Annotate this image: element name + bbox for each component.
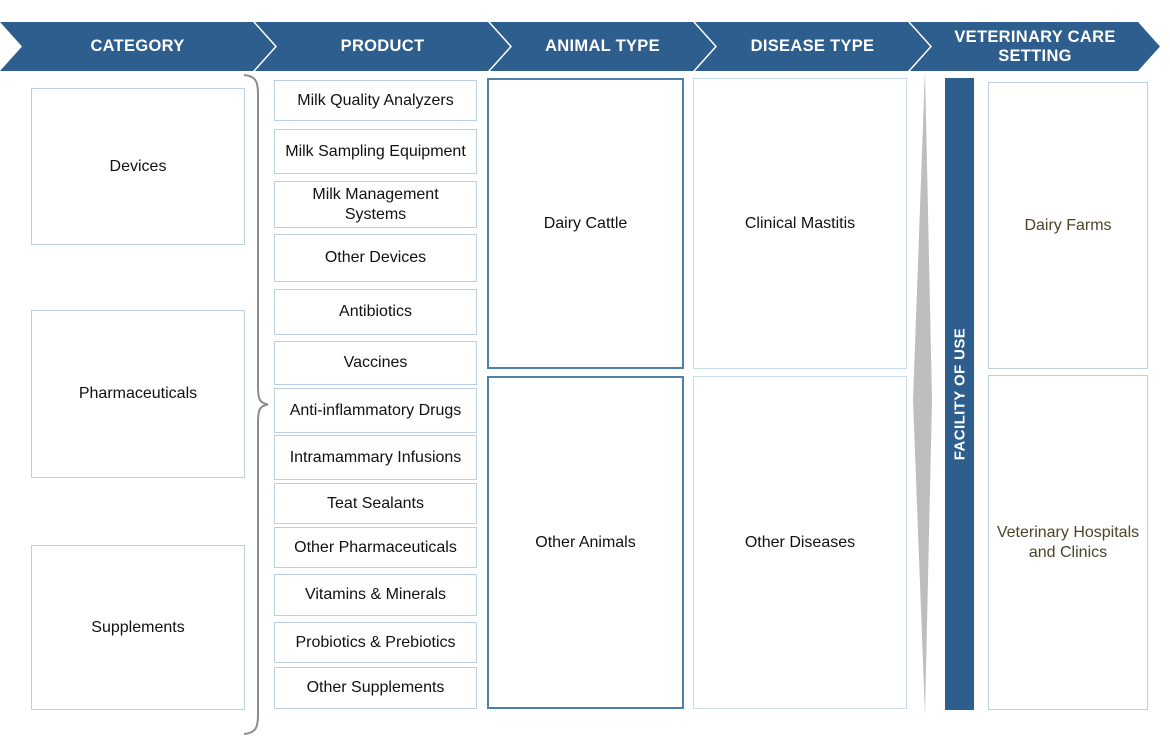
product-label: Milk Quality Analyzers — [291, 91, 460, 111]
disease-type-label: Other Diseases — [739, 533, 861, 553]
header-column-label: CATEGORY — [74, 37, 200, 55]
animal-type-label: Dairy Cattle — [538, 214, 634, 234]
product-label: Antibiotics — [333, 302, 418, 322]
product-box-11[interactable]: Probiotics & Prebiotics — [274, 622, 477, 663]
header-column-label: ANIMAL TYPE — [529, 37, 676, 55]
facility-of-use-label: FACILITY OF USE — [951, 328, 968, 460]
product-box-1[interactable]: Milk Sampling Equipment — [274, 129, 477, 174]
facility-of-use-bar: FACILITY OF USE — [945, 78, 974, 710]
product-box-4[interactable]: Antibiotics — [274, 289, 477, 335]
header-column-veterinary-care-setting: VETERINARY CARE SETTING — [910, 22, 1160, 71]
product-box-9[interactable]: Other Pharmaceuticals — [274, 527, 477, 568]
product-box-2[interactable]: Milk Management Systems — [274, 181, 477, 228]
product-label: Other Pharmaceuticals — [288, 538, 463, 558]
product-label: Intramammary Infusions — [284, 448, 468, 468]
product-box-3[interactable]: Other Devices — [274, 234, 477, 282]
disease-type-box-other-diseases[interactable]: Other Diseases — [693, 376, 907, 709]
product-label: Vaccines — [338, 353, 414, 373]
header-column-disease-type: DISEASE TYPE — [695, 22, 930, 71]
header-column-category: CATEGORY — [0, 22, 275, 71]
setting-label: Dairy Farms — [1018, 216, 1117, 236]
animal-type-box-dairy-cattle[interactable]: Dairy Cattle — [487, 78, 684, 369]
setting-box-veterinary-hospitals-and-clinics[interactable]: Veterinary Hospitals and Clinics — [988, 375, 1148, 710]
product-label: Teat Sealants — [321, 494, 430, 514]
taper-divider-shape — [905, 70, 945, 715]
category-box-supplements[interactable]: Supplements — [31, 545, 245, 710]
category-label: Supplements — [85, 618, 190, 638]
category-box-pharmaceuticals[interactable]: Pharmaceuticals — [31, 310, 245, 478]
product-label: Vitamins & Minerals — [299, 585, 452, 605]
setting-label: Veterinary Hospitals and Clinics — [989, 523, 1147, 562]
product-label: Other Devices — [319, 248, 432, 268]
product-box-5[interactable]: Vaccines — [274, 341, 477, 385]
header-column-product: PRODUCT — [255, 22, 510, 71]
setting-box-dairy-farms[interactable]: Dairy Farms — [988, 82, 1148, 369]
header-column-label: DISEASE TYPE — [735, 37, 891, 55]
animal-type-label: Other Animals — [529, 533, 641, 553]
product-box-10[interactable]: Vitamins & Minerals — [274, 574, 477, 616]
header-ribbon: CATEGORY PRODUCT ANIMAL TYPE DISEASE TYP… — [0, 22, 1170, 71]
product-box-6[interactable]: Anti-inflammatory Drugs — [274, 388, 477, 433]
header-column-label: VETERINARY CARE SETTING — [910, 28, 1160, 65]
product-box-8[interactable]: Teat Sealants — [274, 483, 477, 524]
product-label: Milk Sampling Equipment — [279, 142, 472, 162]
product-box-12[interactable]: Other Supplements — [274, 667, 477, 709]
animal-type-box-other-animals[interactable]: Other Animals — [487, 376, 684, 709]
product-label: Milk Management Systems — [275, 185, 476, 224]
category-box-devices[interactable]: Devices — [31, 88, 245, 245]
category-label: Devices — [104, 157, 173, 177]
product-label: Anti-inflammatory Drugs — [284, 401, 468, 421]
category-label: Pharmaceuticals — [73, 384, 203, 404]
product-label: Probiotics & Prebiotics — [289, 633, 461, 653]
header-column-animal-type: ANIMAL TYPE — [490, 22, 715, 71]
header-column-label: PRODUCT — [325, 37, 441, 55]
product-label: Other Supplements — [301, 678, 451, 698]
product-box-7[interactable]: Intramammary Infusions — [274, 435, 477, 480]
product-box-0[interactable]: Milk Quality Analyzers — [274, 80, 477, 121]
disease-type-box-clinical-mastitis[interactable]: Clinical Mastitis — [693, 78, 907, 369]
disease-type-label: Clinical Mastitis — [739, 214, 861, 234]
